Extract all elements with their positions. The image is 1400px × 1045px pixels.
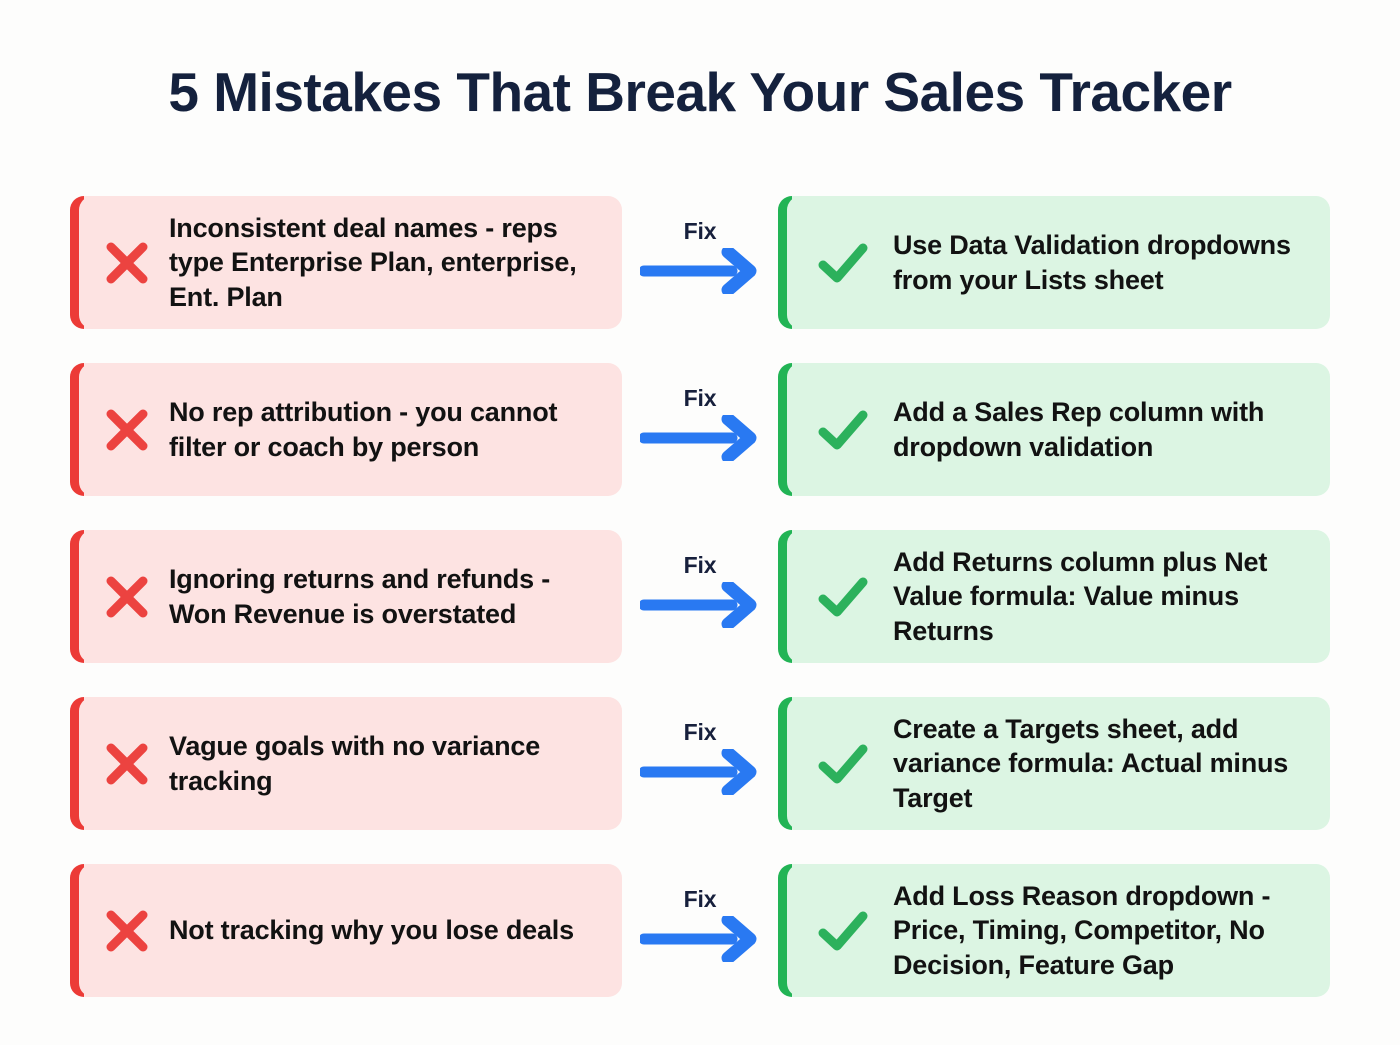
fix-card-body: Use Data Validation dropdowns from your … bbox=[787, 196, 1330, 329]
mistake-card: Ignoring returns and refunds - Won Reven… bbox=[70, 530, 622, 663]
fix-text: Add Returns column plus Net Value formul… bbox=[879, 545, 1330, 649]
arrow-right-icon bbox=[640, 916, 760, 962]
fix-connector: Fix bbox=[622, 363, 778, 496]
fix-text: Add Loss Reason dropdown - Price, Timing… bbox=[879, 879, 1330, 983]
infographic-poster: 5 Mistakes That Break Your Sales Tracker… bbox=[0, 0, 1400, 1045]
fix-connector: Fix bbox=[622, 196, 778, 329]
mistake-card: Not tracking why you lose deals bbox=[70, 864, 622, 997]
fix-card: Add a Sales Rep column with dropdown val… bbox=[778, 363, 1330, 496]
fix-card-body: Add Loss Reason dropdown - Price, Timing… bbox=[787, 864, 1330, 997]
x-cross-icon bbox=[91, 240, 163, 286]
page-title: 5 Mistakes That Break Your Sales Tracker bbox=[0, 62, 1400, 123]
check-mark-icon bbox=[807, 408, 879, 452]
x-cross-icon bbox=[91, 741, 163, 787]
mistake-card-body: Ignoring returns and refunds - Won Reven… bbox=[79, 530, 622, 663]
arrow-right-icon bbox=[640, 749, 760, 795]
mistake-text: Inconsistent deal names - reps type Ente… bbox=[163, 211, 622, 315]
fix-card: Use Data Validation dropdowns from your … bbox=[778, 196, 1330, 329]
mistake-fix-row-list: Inconsistent deal names - reps type Ente… bbox=[0, 196, 1400, 1031]
mistake-card-body: Inconsistent deal names - reps type Ente… bbox=[79, 196, 622, 329]
fix-label: Fix bbox=[622, 552, 778, 579]
fix-label: Fix bbox=[622, 886, 778, 913]
x-cross-icon bbox=[91, 407, 163, 453]
x-cross-icon bbox=[91, 908, 163, 954]
mistake-card: Inconsistent deal names - reps type Ente… bbox=[70, 196, 622, 329]
fix-text: Use Data Validation dropdowns from your … bbox=[879, 228, 1330, 297]
mistake-fix-row: Not tracking why you lose deals Fix bbox=[0, 864, 1400, 997]
fix-card: Create a Targets sheet, add variance for… bbox=[778, 697, 1330, 830]
mistake-text: No rep attribution - you cannot filter o… bbox=[163, 395, 622, 464]
check-mark-icon bbox=[807, 241, 879, 285]
x-cross-icon bbox=[91, 574, 163, 620]
fix-text: Add a Sales Rep column with dropdown val… bbox=[879, 395, 1330, 464]
mistake-card-body: No rep attribution - you cannot filter o… bbox=[79, 363, 622, 496]
fix-card-body: Create a Targets sheet, add variance for… bbox=[787, 697, 1330, 830]
mistake-text: Not tracking why you lose deals bbox=[163, 913, 622, 948]
fix-label: Fix bbox=[622, 385, 778, 412]
mistake-text: Vague goals with no variance tracking bbox=[163, 729, 622, 798]
mistake-card-body: Vague goals with no variance tracking bbox=[79, 697, 622, 830]
check-mark-icon bbox=[807, 742, 879, 786]
fix-card: Add Loss Reason dropdown - Price, Timing… bbox=[778, 864, 1330, 997]
fix-label: Fix bbox=[622, 218, 778, 245]
mistake-fix-row: Ignoring returns and refunds - Won Reven… bbox=[0, 530, 1400, 663]
mistake-card-body: Not tracking why you lose deals bbox=[79, 864, 622, 997]
fix-connector: Fix bbox=[622, 864, 778, 997]
mistake-fix-row: Inconsistent deal names - reps type Ente… bbox=[0, 196, 1400, 329]
fix-card-body: Add a Sales Rep column with dropdown val… bbox=[787, 363, 1330, 496]
mistake-card: No rep attribution - you cannot filter o… bbox=[70, 363, 622, 496]
arrow-right-icon bbox=[640, 248, 760, 294]
check-mark-icon bbox=[807, 909, 879, 953]
mistake-text: Ignoring returns and refunds - Won Reven… bbox=[163, 562, 622, 631]
fix-card-body: Add Returns column plus Net Value formul… bbox=[787, 530, 1330, 663]
check-mark-icon bbox=[807, 575, 879, 619]
arrow-right-icon bbox=[640, 415, 760, 461]
fix-connector: Fix bbox=[622, 697, 778, 830]
fix-connector: Fix bbox=[622, 530, 778, 663]
fix-card: Add Returns column plus Net Value formul… bbox=[778, 530, 1330, 663]
mistake-fix-row: No rep attribution - you cannot filter o… bbox=[0, 363, 1400, 496]
mistake-card: Vague goals with no variance tracking bbox=[70, 697, 622, 830]
mistake-fix-row: Vague goals with no variance tracking Fi… bbox=[0, 697, 1400, 830]
fix-label: Fix bbox=[622, 719, 778, 746]
fix-text: Create a Targets sheet, add variance for… bbox=[879, 712, 1330, 816]
arrow-right-icon bbox=[640, 582, 760, 628]
